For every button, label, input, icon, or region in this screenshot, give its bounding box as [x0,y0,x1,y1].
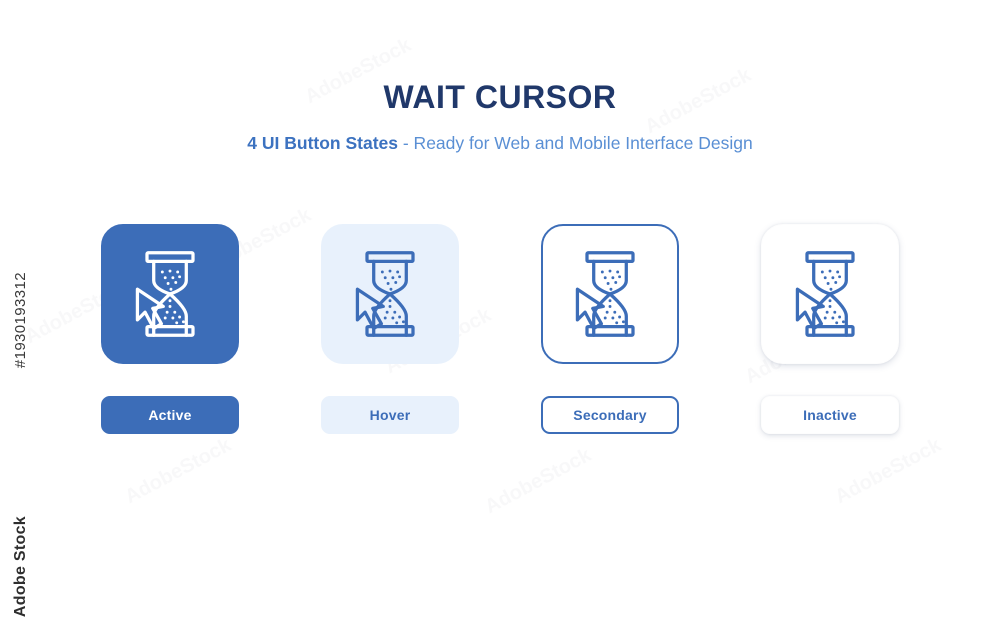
watermark-brand: Adobe Stock [12,516,30,617]
state-button-active[interactable]: Active [101,396,239,434]
button-slot-inactive: Inactive [740,396,920,434]
state-buttons-row: Active Hover Secondary Inactive [0,396,1000,438]
wait-cursor-icon [344,246,436,342]
page-subtitle: 4 UI Button States - Ready for Web and M… [0,132,1000,154]
icon-card-active[interactable] [101,224,239,364]
state-column-active [80,224,260,364]
state-cards-row [0,224,1000,370]
watermark-tile: AdobeStock [831,434,945,509]
wait-cursor-icon [564,246,656,342]
poster-header: WAIT CURSOR 4 UI Button States - Ready f… [0,78,1000,154]
watermark-tile: AdobeStock [121,434,235,509]
wait-cursor-icon [784,246,876,342]
icon-card-inactive[interactable] [761,224,899,364]
button-slot-hover: Hover [300,396,480,434]
state-button-hover[interactable]: Hover [321,396,459,434]
state-button-inactive[interactable]: Inactive [761,396,899,434]
poster-canvas: AdobeStock AdobeStock AdobeStock AdobeSt… [0,0,1000,526]
page-title: WAIT CURSOR [0,78,1000,116]
icon-card-hover[interactable] [321,224,459,364]
state-button-secondary[interactable]: Secondary [541,396,679,434]
page-subtitle-rest: - Ready for Web and Mobile Interface Des… [398,133,753,153]
state-column-secondary [520,224,700,364]
state-column-inactive [740,224,920,364]
watermark-tile: AdobeStock [481,444,595,519]
button-slot-secondary: Secondary [520,396,700,434]
state-column-hover [300,224,480,364]
page-subtitle-strong: 4 UI Button States [247,133,398,153]
icon-card-secondary[interactable] [541,224,679,364]
wait-cursor-icon [124,246,216,342]
watermark-asset-id: #1930193312 [12,272,29,368]
button-slot-active: Active [80,396,260,434]
